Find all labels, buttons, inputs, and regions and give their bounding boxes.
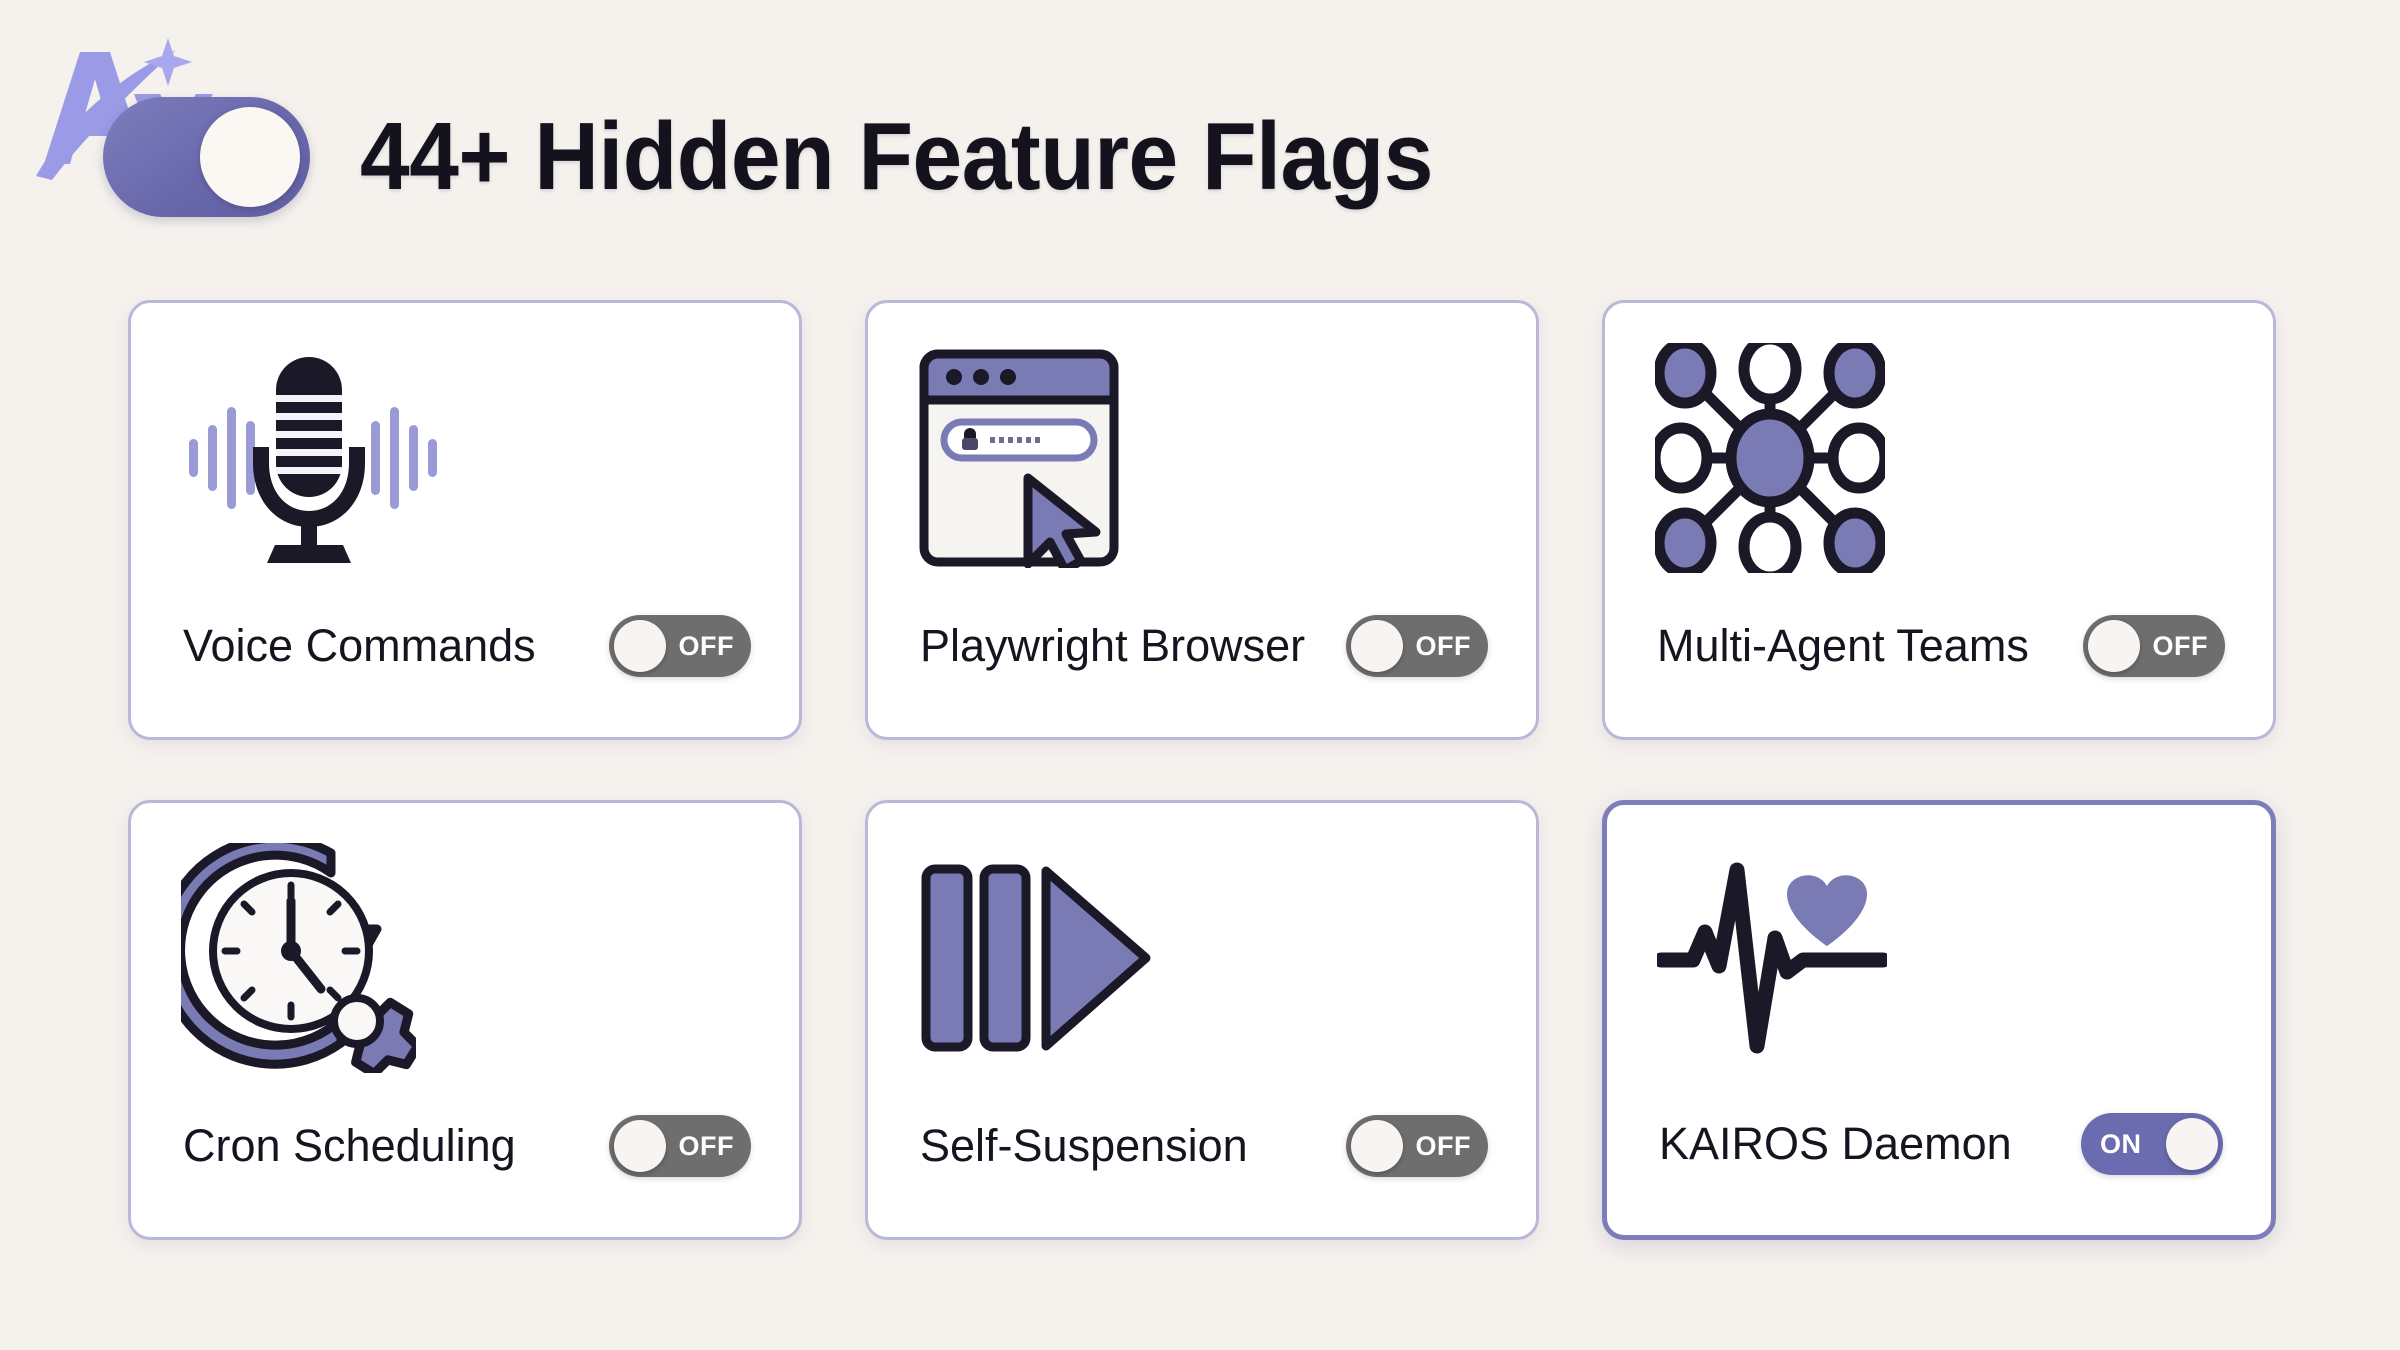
toggle-knob (1351, 620, 1403, 672)
toggle-knob (2088, 620, 2140, 672)
feature-toggle-voice-commands[interactable]: OFF (609, 615, 751, 677)
feature-toggle-kairos-daemon[interactable]: ON (2081, 1113, 2223, 1175)
toggle-knob (200, 107, 300, 207)
toggle-state-label: OFF (2153, 615, 2209, 677)
feature-card-multi-agent-teams[interactable]: Multi-Agent Teams OFF (1602, 300, 2276, 740)
toggle-state-label: OFF (1416, 615, 1472, 677)
feature-label: Voice Commands (183, 620, 536, 672)
feature-toggle-cron-scheduling[interactable]: OFF (609, 1115, 751, 1177)
clock-refresh-gear-icon (181, 833, 461, 1083)
feature-label: KAIROS Daemon (1659, 1118, 2012, 1170)
feature-toggle-playwright-browser[interactable]: OFF (1346, 615, 1488, 677)
card-footer: KAIROS Daemon ON (1659, 1109, 2223, 1179)
feature-toggle-multi-agent-teams[interactable]: OFF (2083, 615, 2225, 677)
toggle-knob (614, 1120, 666, 1172)
feature-label: Self-Suspension (920, 1120, 1248, 1172)
feature-toggle-self-suspension[interactable]: OFF (1346, 1115, 1488, 1177)
toggle-state-label: ON (2100, 1113, 2142, 1175)
card-footer: Self-Suspension OFF (920, 1111, 1488, 1181)
microphone-waveform-icon (181, 333, 461, 583)
heartbeat-pulse-icon (1657, 835, 1937, 1085)
card-footer: Cron Scheduling OFF (183, 1111, 751, 1181)
feature-card-voice-commands[interactable]: Voice Commands OFF (128, 300, 802, 740)
toggle-state-label: OFF (679, 615, 735, 677)
pause-play-icon (918, 833, 1198, 1083)
page-title: 44+ Hidden Feature Flags (360, 105, 1433, 209)
toggle-state-label: OFF (1416, 1115, 1472, 1177)
feature-card-kairos-daemon[interactable]: KAIROS Daemon ON (1602, 800, 2276, 1240)
feature-label: Multi-Agent Teams (1657, 620, 2029, 672)
feature-flags-grid: Voice Commands OFF (128, 300, 2274, 1240)
toggle-state-label: OFF (679, 1115, 735, 1177)
feature-card-cron-scheduling[interactable]: Cron Scheduling OFF (128, 800, 802, 1240)
toggle-knob (2166, 1118, 2218, 1170)
feature-card-self-suspension[interactable]: Self-Suspension OFF (865, 800, 1539, 1240)
browser-window-cursor-icon (918, 333, 1198, 583)
page-header: 44+ Hidden Feature Flags (0, 0, 2400, 280)
toggle-knob (1351, 1120, 1403, 1172)
feature-card-playwright-browser[interactable]: Playwright Browser OFF (865, 300, 1539, 740)
network-hub-nodes-icon (1655, 333, 1935, 583)
feature-label: Playwright Browser (920, 620, 1305, 672)
card-footer: Multi-Agent Teams OFF (1657, 611, 2225, 681)
header-feature-toggle[interactable] (103, 97, 310, 217)
card-footer: Voice Commands OFF (183, 611, 751, 681)
feature-label: Cron Scheduling (183, 1120, 516, 1172)
card-footer: Playwright Browser OFF (920, 611, 1488, 681)
toggle-knob (614, 620, 666, 672)
